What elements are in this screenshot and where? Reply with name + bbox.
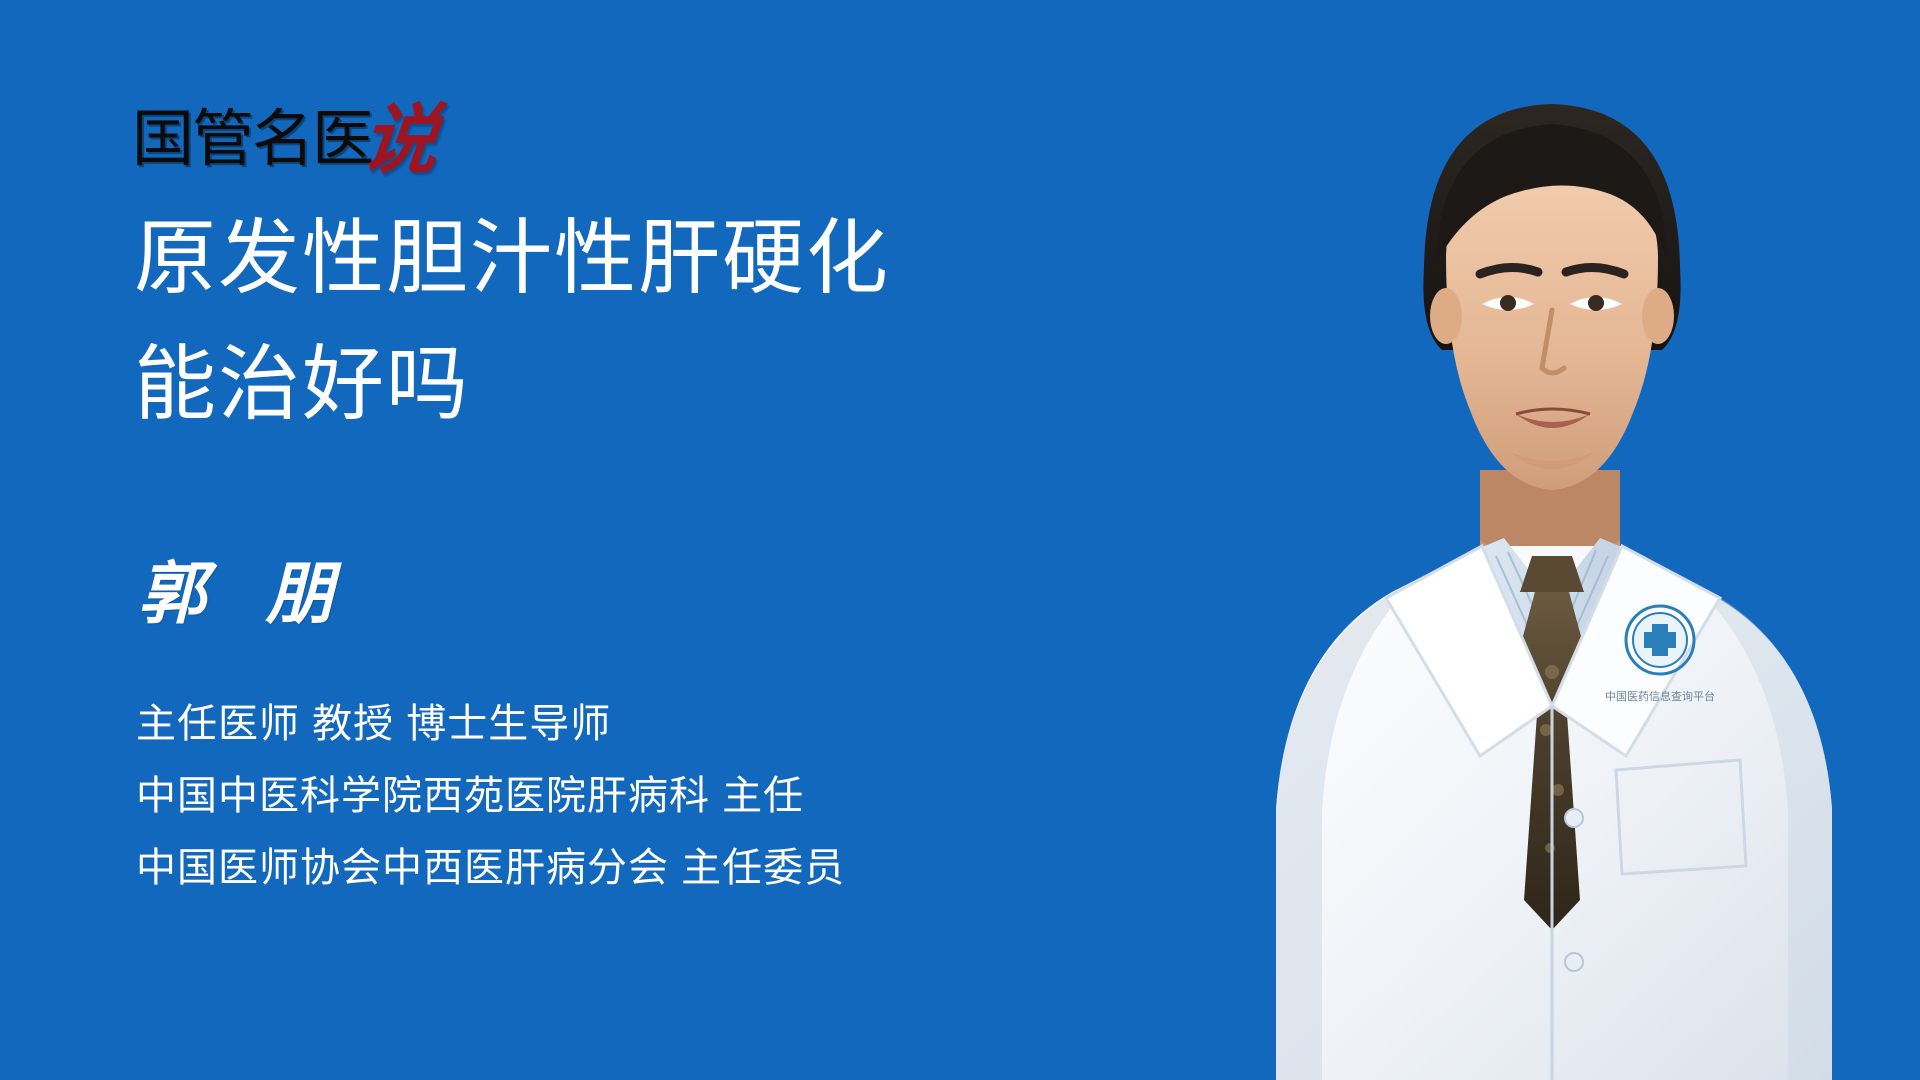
- face: [1446, 166, 1658, 490]
- ear-right: [1642, 288, 1674, 344]
- badge-caption: 中国医药信息查询平台: [1605, 689, 1715, 703]
- text-column: 国管名医 说 原发性胆汁性肝硬化 能治好吗 郭 朋 主任医师 教授 博士生导师 …: [132, 0, 1132, 1080]
- program-logo-accent-text: 说: [358, 102, 442, 178]
- doctor-portrait-illustration: 中国医药信息查询平台: [1180, 0, 1920, 1080]
- pupil-left: [1500, 295, 1516, 311]
- doctor-name: 郭 朋: [138, 560, 352, 628]
- credential-line: 主任医师 教授 博士生导师: [136, 688, 845, 760]
- ear-left: [1430, 288, 1462, 344]
- doctor-credentials: 主任医师 教授 博士生导师 中国中医科学院西苑医院肝病科 主任 中国医师协会中西…: [136, 688, 845, 904]
- program-logo: 国管名医 说: [132, 96, 438, 172]
- credential-line: 中国医师协会中西医肝病分会 主任委员: [136, 832, 845, 904]
- doctor-portrait-photo: 中国医药信息查询平台: [1180, 0, 1920, 1080]
- program-logo-main-text: 国管名医: [132, 108, 372, 170]
- page-title: 原发性胆汁性肝硬化 能治好吗: [134, 196, 890, 448]
- page-title-line-1: 原发性胆汁性肝硬化: [134, 196, 890, 322]
- page-title-line-2: 能治好吗: [134, 322, 890, 448]
- credential-line: 中国中医科学院西苑医院肝病科 主任: [136, 760, 845, 832]
- pupil-right: [1588, 295, 1604, 311]
- video-cover-slide: 国管名医 说 原发性胆汁性肝硬化 能治好吗 郭 朋 主任医师 教授 博士生导师 …: [0, 0, 1920, 1080]
